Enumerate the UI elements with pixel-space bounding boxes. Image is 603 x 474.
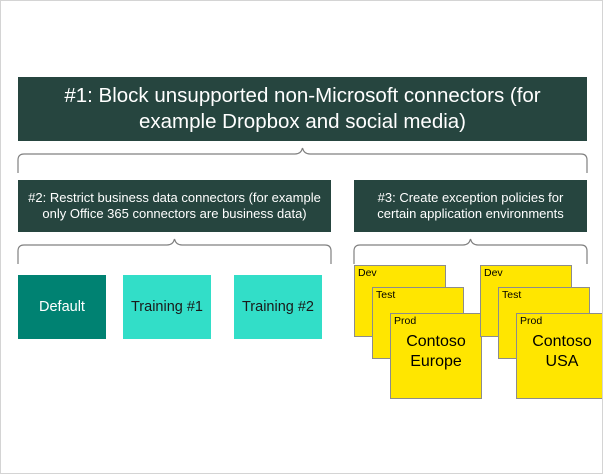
tier2-label: #2: Restrict business data connectors (f…	[26, 190, 323, 223]
card-tag-label: Prod	[394, 315, 416, 327]
tier2-policy-box[interactable]: #2: Restrict business data connectors (f…	[18, 180, 331, 232]
tier1-policy-box[interactable]: #1: Block unsupported non-Microsoft conn…	[18, 77, 587, 141]
brace-top-icon	[18, 147, 587, 173]
tier3-policy-box[interactable]: #3: Create exception policies for certai…	[354, 180, 587, 232]
card-tag-label: Test	[502, 289, 521, 301]
environment-box-default[interactable]: Default	[18, 275, 106, 339]
environment-label: Training #1	[131, 299, 203, 315]
tenant-title: Contoso USA	[517, 332, 603, 371]
diagram-canvas: #1: Block unsupported non-Microsoft conn…	[0, 0, 603, 474]
environment-label: Training #2	[242, 299, 314, 315]
tenant-stack-contoso-europe: Dev Test Prod Contoso Europe	[354, 265, 482, 399]
card-tag-label: Prod	[520, 315, 542, 327]
environment-box-training-2[interactable]: Training #2	[234, 275, 322, 339]
environment-box-training-1[interactable]: Training #1	[123, 275, 211, 339]
tenant-card-prod[interactable]: Prod Contoso USA	[516, 313, 603, 399]
tenant-title: Contoso Europe	[391, 332, 481, 371]
card-tag-label: Dev	[358, 267, 377, 279]
brace-left-icon	[18, 238, 331, 264]
tenant-stack-contoso-usa: Dev Test Prod Contoso USA	[480, 265, 603, 399]
tenant-card-prod[interactable]: Prod Contoso Europe	[390, 313, 482, 399]
environment-label: Default	[39, 299, 85, 315]
brace-right-icon	[354, 238, 587, 264]
brace-tier2-to-environments	[18, 238, 331, 264]
brace-tier1-to-tier23	[18, 147, 587, 173]
card-tag-label: Test	[376, 289, 395, 301]
tier1-label: #1: Block unsupported non-Microsoft conn…	[28, 83, 577, 135]
tier3-label: #3: Create exception policies for certai…	[362, 190, 579, 223]
card-tag-label: Dev	[484, 267, 503, 279]
brace-tier3-to-tenants	[354, 238, 587, 264]
